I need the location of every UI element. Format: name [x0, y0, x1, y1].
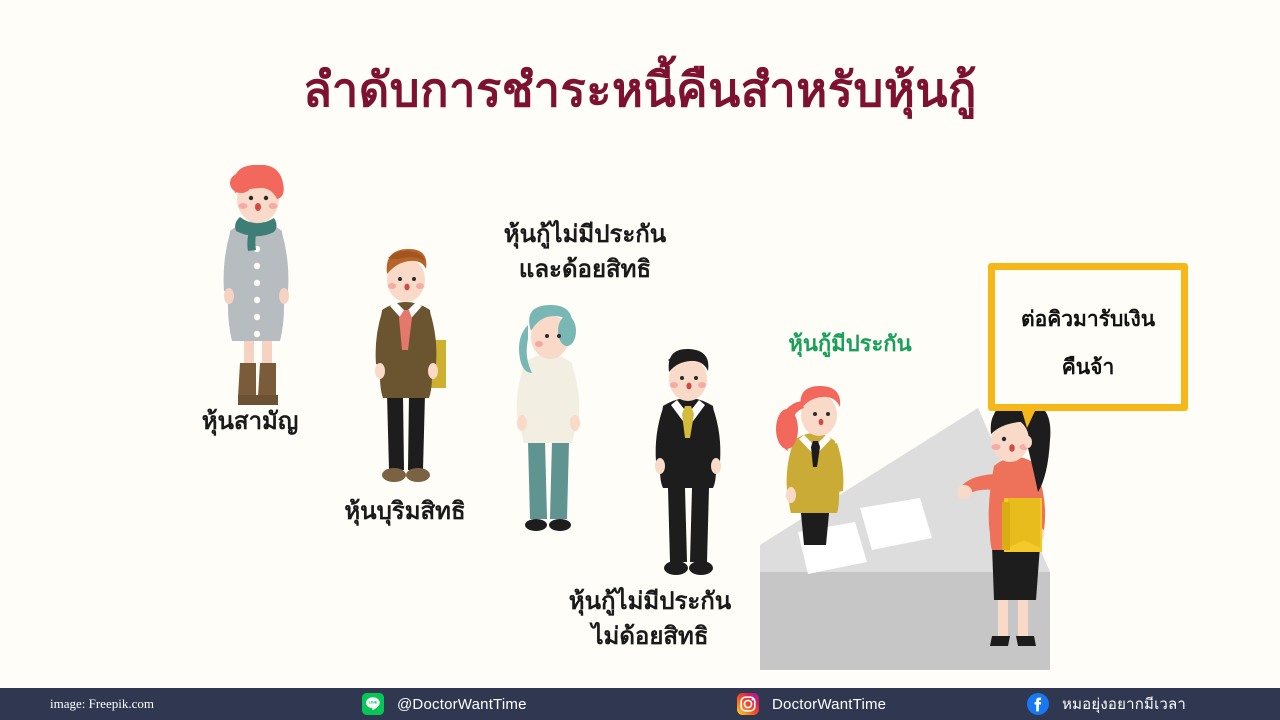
speech-bubble: ต่อคิวมารับเงิน คืนจ้า — [988, 263, 1188, 411]
speech-bubble-tail — [1017, 404, 1061, 430]
label-secured-debenture: หุ้นกู้มีประกัน — [740, 328, 960, 360]
svg-text:LINE: LINE — [369, 701, 378, 705]
slide-canvas: ลำดับการชำระหนี้คืนสำหรับหุ้นกู้ — [0, 0, 1280, 720]
footer-bar: image: Freepik.com LINE @DoctorWantTime — [0, 688, 1280, 720]
figure-woman-coral-clerk — [958, 398, 1070, 675]
facebook-handle: หมอยุ่งอยากมีเวลา — [1062, 692, 1186, 716]
image-credit: image: Freepik.com — [50, 688, 154, 720]
social-facebook[interactable]: หมอยุ่งอยากมีเวลา — [1027, 688, 1186, 720]
figure-man-black-suit — [638, 348, 736, 593]
speech-bubble-text: ต่อคิวมารับเงิน คืนจ้า — [995, 296, 1181, 393]
line-icon: LINE — [362, 693, 384, 715]
label-unsecured-unsubordinated: หุ้นกู้ไม่มีประกัน ไม่ด้อยสิทธิ — [505, 585, 795, 655]
social-instagram[interactable]: DoctorWantTime — [737, 688, 886, 720]
label-unsecured-subordinated: หุ้นกู้ไม่มีประกัน และด้อยสิทธิ — [420, 218, 750, 288]
figure-woman-grey-coat — [208, 165, 304, 420]
line-handle: @DoctorWantTime — [397, 696, 527, 713]
page-title: ลำดับการชำระหนี้คืนสำหรับหุ้นกู้ — [0, 52, 1280, 127]
figure-woman-teal-hair — [500, 305, 596, 555]
figure-man-brown-jacket — [358, 248, 454, 503]
instagram-icon — [737, 693, 759, 715]
instagram-handle: DoctorWantTime — [772, 696, 886, 713]
social-line[interactable]: LINE @DoctorWantTime — [362, 688, 527, 720]
figure-woman-mustard-top — [766, 385, 866, 580]
facebook-icon — [1027, 693, 1049, 715]
